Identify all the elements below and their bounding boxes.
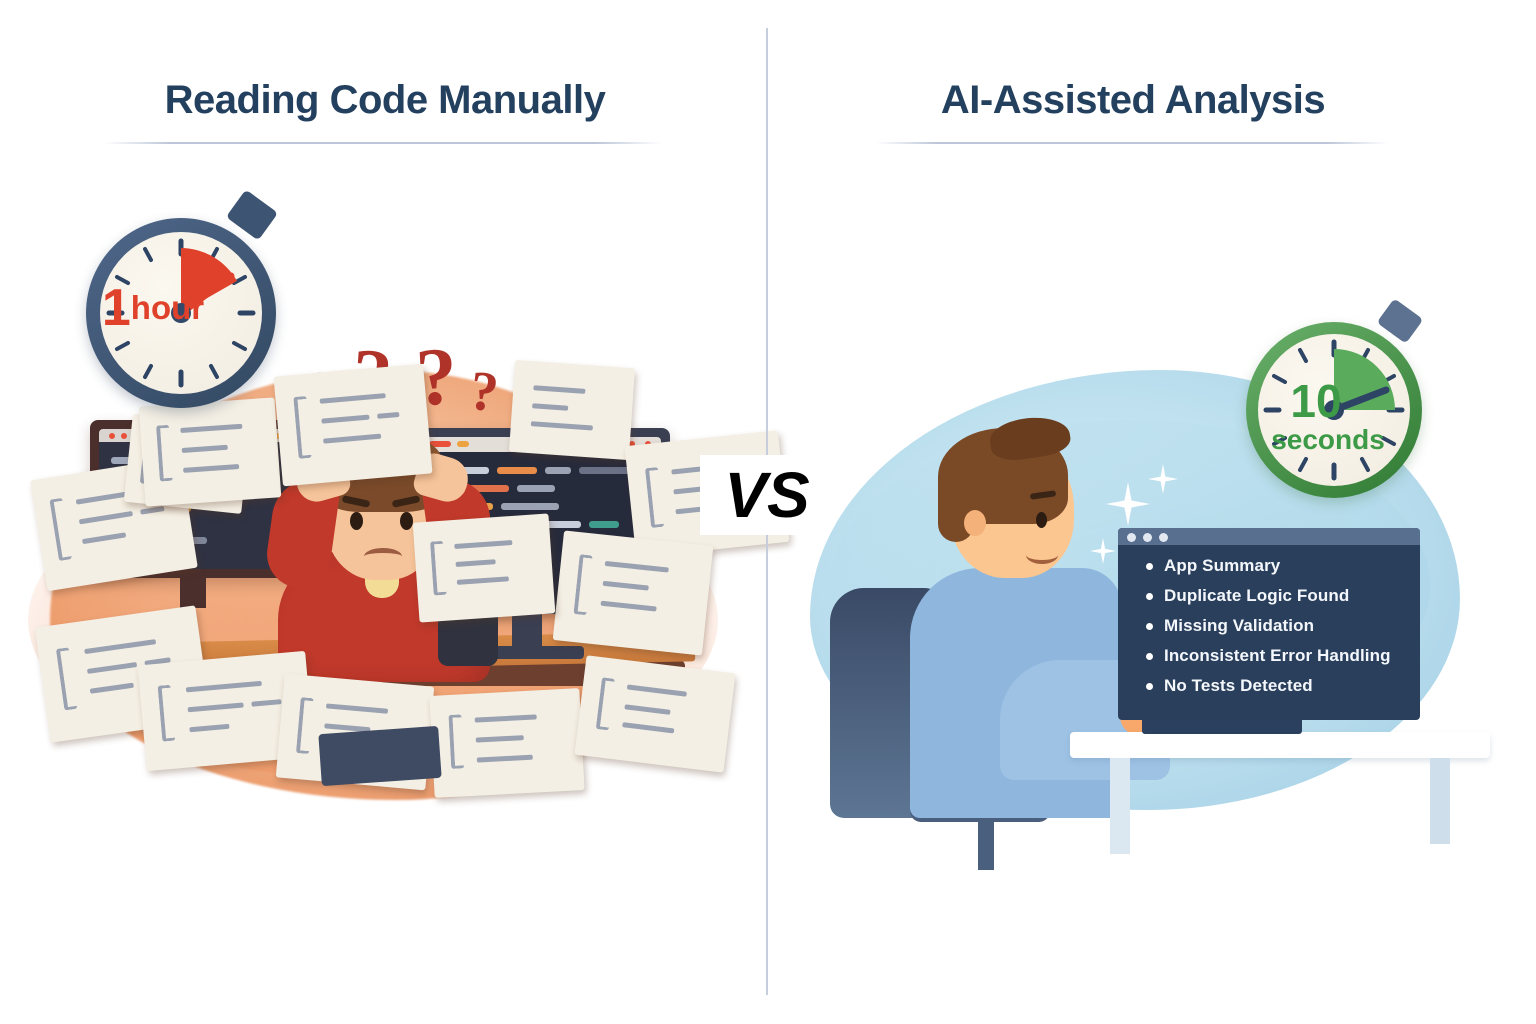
list-item: No Tests Detected [1146,676,1412,696]
developer-eye [1036,512,1047,528]
developer-eye [400,512,413,530]
stopwatch-unit: seconds [1271,424,1385,455]
stopwatch-ten-seconds: 10 seconds [1240,302,1440,498]
comparison-infographic: Reading Code Manually [0,0,1536,1024]
code-paper [509,360,635,460]
stopwatch-unit: hour [131,289,204,326]
window-dot-icon[interactable] [1143,533,1152,542]
developer-smile [1026,546,1058,564]
bullet-icon [1146,593,1153,600]
stopwatch-value: 10 [1290,375,1341,427]
ai-monitor-screen: App Summary Duplicate Logic Found Missin… [1118,528,1420,720]
window-dot-icon[interactable] [1127,533,1136,542]
monitor-right-stand [512,614,542,648]
window-dot-icon [121,433,127,439]
list-item: App Summary [1146,556,1412,576]
list-item-label: App Summary [1164,556,1280,576]
bullet-icon [1146,683,1153,690]
monitor-left-stand [180,578,206,608]
office-chair-post [978,820,994,870]
window-dot-icon[interactable] [1159,533,1168,542]
analysis-results-list: App Summary Duplicate Logic Found Missin… [1146,556,1412,706]
stopwatch-one-hour: 1hour [80,196,296,408]
list-item-label: Inconsistent Error Handling [1164,646,1391,666]
list-item-label: Duplicate Logic Found [1164,586,1349,606]
list-item: Missing Validation [1146,616,1412,636]
code-paper [553,530,714,655]
developer-eye [350,512,363,530]
code-paper [413,513,556,622]
left-panel-title: Reading Code Manually [110,78,660,123]
developer-ear [964,510,986,536]
code-paper [574,655,735,773]
bullet-icon [1146,563,1153,570]
window-dot-icon [457,441,469,447]
stopwatch-face: 1hour [100,232,262,394]
stopwatch-value: 1 [102,279,131,337]
window-titlebar [1118,528,1420,545]
list-item-label: Missing Validation [1164,616,1314,636]
developer-mouth [364,548,402,565]
window-dot-icon [109,433,115,439]
stopwatch-face: 10 seconds [1258,334,1410,486]
right-panel-title: AI-Assisted Analysis [878,78,1388,123]
left-title-divider [104,142,662,144]
bullet-icon [1146,653,1153,660]
code-paper [429,688,584,798]
bullet-icon [1146,623,1153,630]
list-item-label: No Tests Detected [1164,676,1313,696]
code-paper [139,397,282,506]
code-paper [273,364,432,487]
ai-monitor: App Summary Duplicate Logic Found Missin… [1108,518,1430,730]
paper-stack [318,726,441,786]
desk-leg [1110,758,1130,854]
right-title-divider [876,142,1388,144]
list-item: Duplicate Logic Found [1146,586,1412,606]
desk-surface [1070,732,1490,758]
desk-leg [1430,758,1450,844]
list-item: Inconsistent Error Handling [1146,646,1412,666]
